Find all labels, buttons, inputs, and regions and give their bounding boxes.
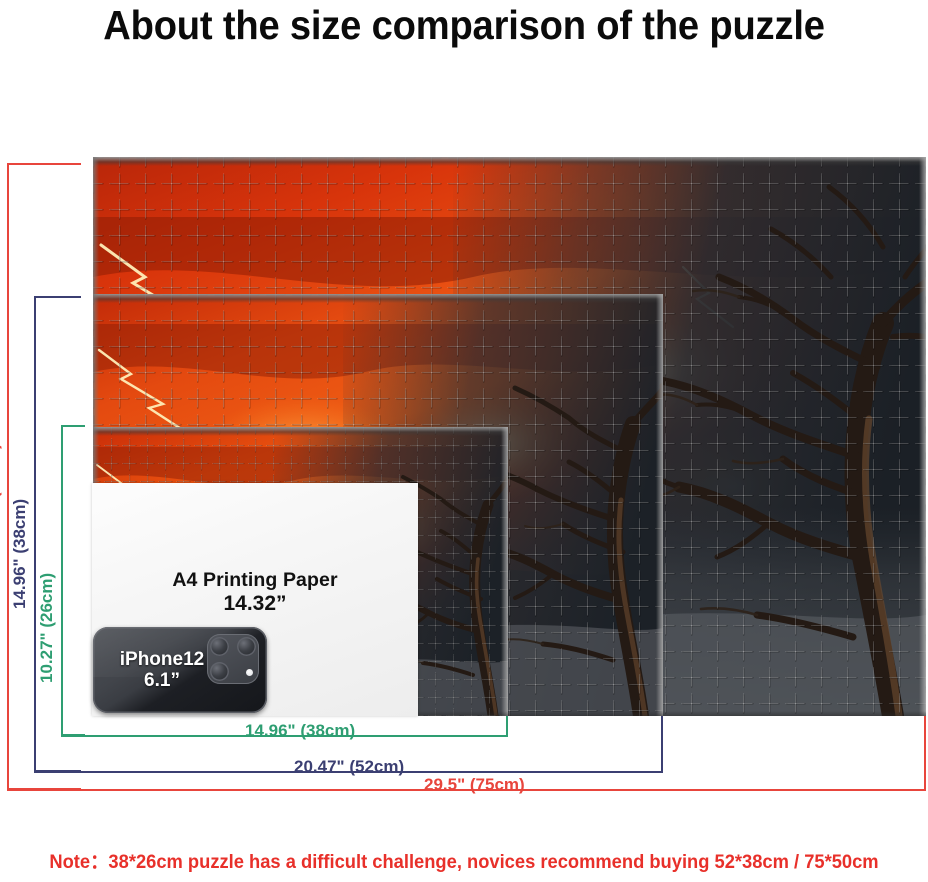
phone-model: iPhone12: [99, 649, 225, 670]
camera-lens-icon: [237, 637, 256, 656]
a4-paper-size: 14.32”: [92, 592, 418, 616]
a4-paper-label: A4 Printing Paper 14.32”: [92, 569, 418, 616]
dim-label-26cm: 10.27" (26cm): [37, 573, 57, 683]
phone-label: iPhone12 6.1”: [99, 649, 225, 692]
dim-tick-right: [924, 716, 926, 790]
board-edge-right: [501, 427, 508, 716]
dim-label-38cm-h: 14.96" (38cm): [245, 721, 355, 741]
board-edge-top: [93, 427, 508, 436]
a4-paper-title: A4 Printing Paper: [92, 569, 418, 592]
dim-label-75cm-h: 29.5" (75cm): [424, 775, 525, 795]
dim-line: [7, 163, 9, 790]
dim-tick-top: [61, 425, 85, 427]
phone-size: 6.1”: [99, 670, 225, 691]
board-edge-top: [93, 157, 926, 166]
dim-label-50cm: 19.7" (50cm): [0, 443, 3, 544]
dim-line: [34, 296, 36, 772]
size-comparison-infographic: About the size comparison of the puzzle: [0, 0, 928, 882]
dim-tick-top: [7, 163, 81, 165]
iphone12-reference: iPhone12 6.1”: [93, 627, 267, 713]
footer-note: Note：38*26cm puzzle has a difficult chal…: [28, 845, 900, 874]
dim-label-52cm-h: 20.47" (52cm): [294, 757, 404, 777]
board-edge-top: [93, 294, 663, 303]
board-edge-right: [919, 157, 926, 716]
dim-line: [61, 425, 63, 736]
camera-flash-icon: [246, 669, 253, 676]
dim-label-38cm: 14.96" (38cm): [10, 499, 30, 609]
page-title: About the size comparison of the puzzle: [32, 2, 895, 49]
dim-tick-right: [506, 716, 508, 736]
board-edge-right: [656, 294, 663, 716]
dim-tick-right: [661, 716, 663, 772]
dim-tick-top: [34, 296, 81, 298]
